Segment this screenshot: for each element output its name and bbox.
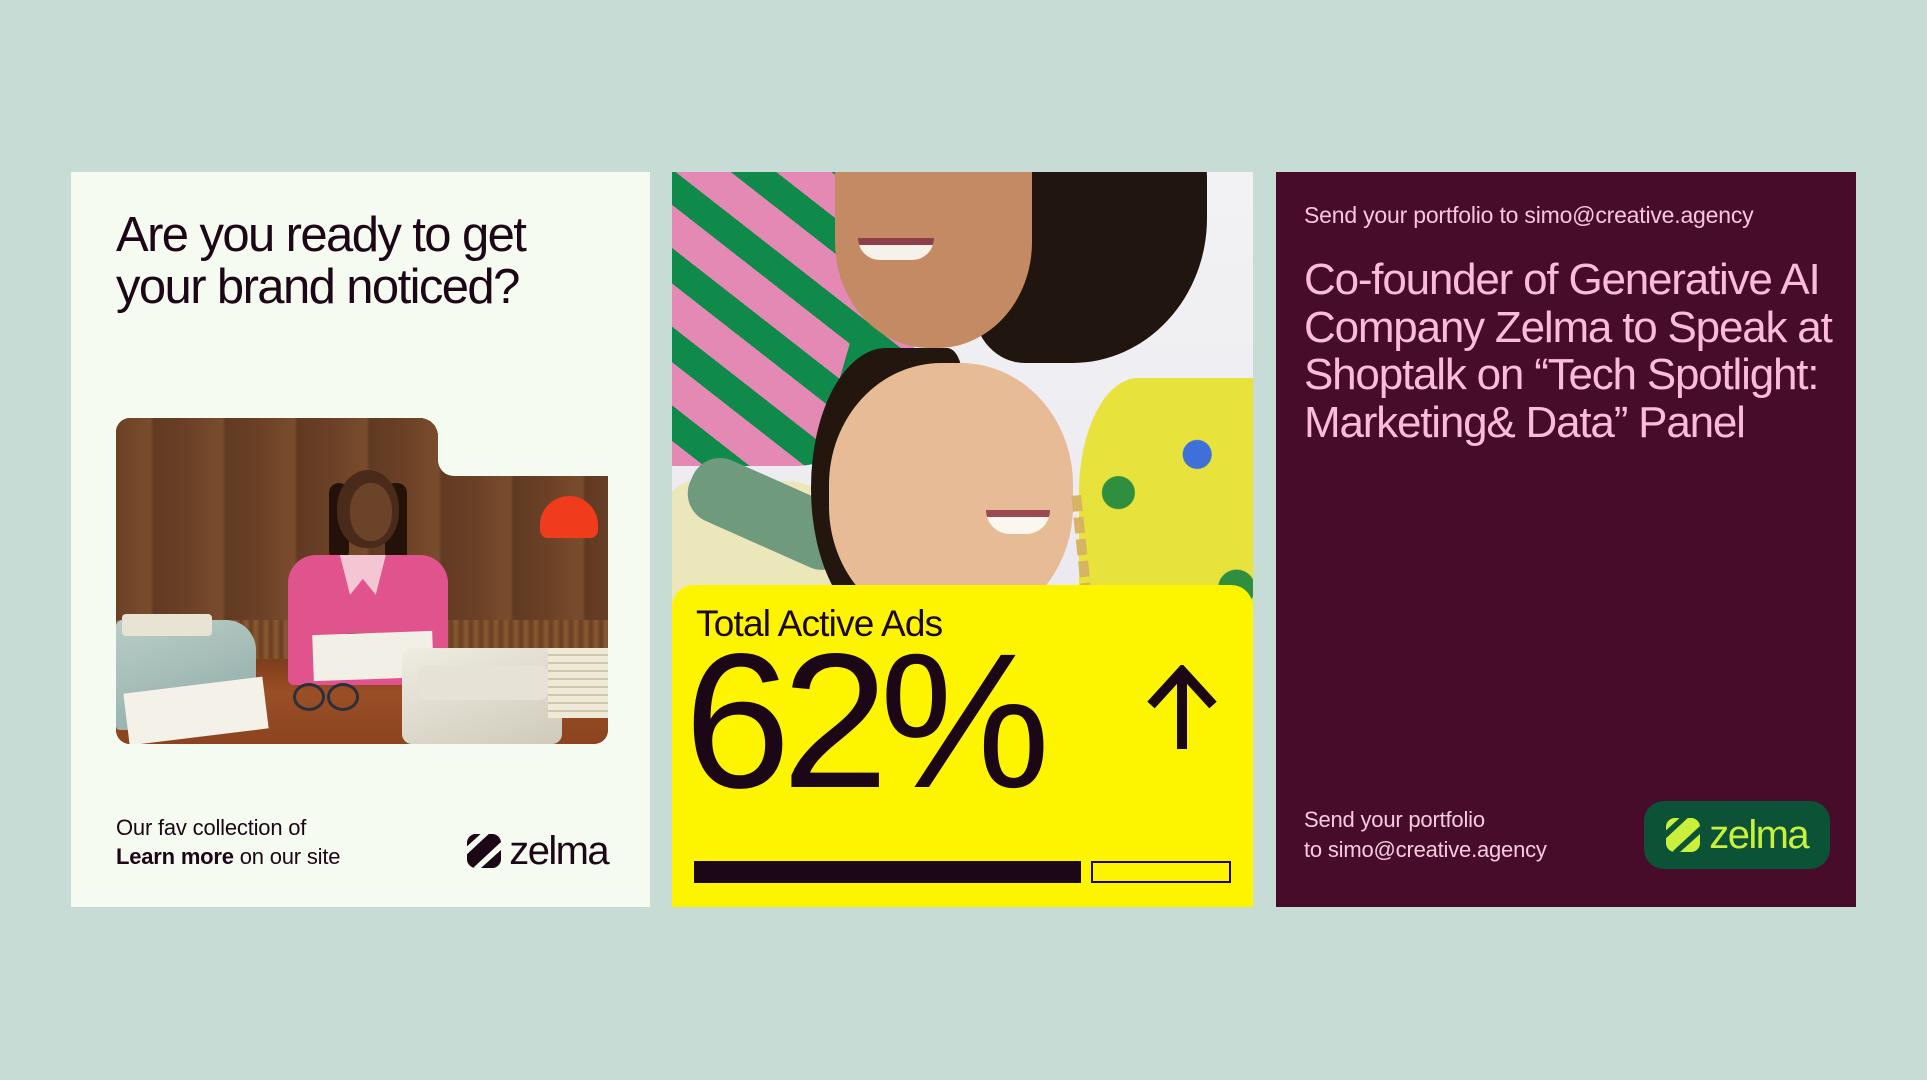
- zelma-logo[interactable]: zelma: [467, 831, 608, 871]
- poster-canvas: Are you ready to get your brand noticed?: [0, 0, 1927, 1080]
- learn-more-link[interactable]: Learn more: [116, 844, 234, 869]
- news-headline: Co-founder of Generative AI Company Zelm…: [1304, 256, 1842, 446]
- zelma-logo-mark: [467, 834, 501, 868]
- metric-panel: Total Active Ads 62%: [672, 585, 1253, 907]
- progress-bar-fill: [694, 861, 1081, 883]
- progress-bar-remainder: [1091, 861, 1231, 883]
- news-footer-line-2: to simo@creative.agency: [1304, 835, 1547, 865]
- news-footer-text: Send your portfolio to simo@creative.age…: [1304, 805, 1547, 864]
- card-total-active-ads[interactable]: Total Active Ads 62%: [672, 172, 1253, 907]
- news-footer: Send your portfolio to simo@creative.age…: [1304, 801, 1830, 869]
- card-press-announcement[interactable]: Send your portfolio to simo@creative.age…: [1276, 172, 1856, 907]
- card-footer: Our fav collection of Learn more on our …: [116, 813, 608, 871]
- zelma-wordmark: zelma: [1709, 815, 1808, 855]
- arrow-up-icon: [1147, 665, 1217, 751]
- footer-text: Our fav collection of Learn more on our …: [116, 813, 340, 871]
- photo-corner-notch: [438, 418, 608, 476]
- photo-paper-stack: [548, 648, 608, 718]
- progress-bar: [694, 861, 1231, 883]
- photo-phone-handset: [418, 666, 548, 700]
- card-brand-noticed[interactable]: Are you ready to get your brand noticed?: [71, 172, 650, 907]
- photo-face: [350, 483, 392, 541]
- office-photo: [116, 418, 608, 744]
- photo-typewriter-paper: [122, 614, 212, 636]
- card-headline: Are you ready to get your brand noticed?: [116, 210, 616, 314]
- metric-value: 62%: [684, 625, 1041, 817]
- news-footer-line-1: Send your portfolio: [1304, 805, 1547, 835]
- zelma-wordmark: zelma: [509, 831, 608, 871]
- footer-line-2: Learn more on our site: [116, 842, 340, 871]
- portfolio-kicker: Send your portfolio to simo@creative.age…: [1304, 202, 1828, 229]
- photo-glasses: [293, 683, 359, 705]
- footer-line-1: Our fav collection of: [116, 813, 340, 842]
- photo-smile-top: [858, 238, 934, 260]
- zelma-logo-mark: [1666, 818, 1700, 852]
- footer-line-2-rest: on our site: [234, 844, 340, 869]
- zelma-badge[interactable]: zelma: [1644, 801, 1830, 869]
